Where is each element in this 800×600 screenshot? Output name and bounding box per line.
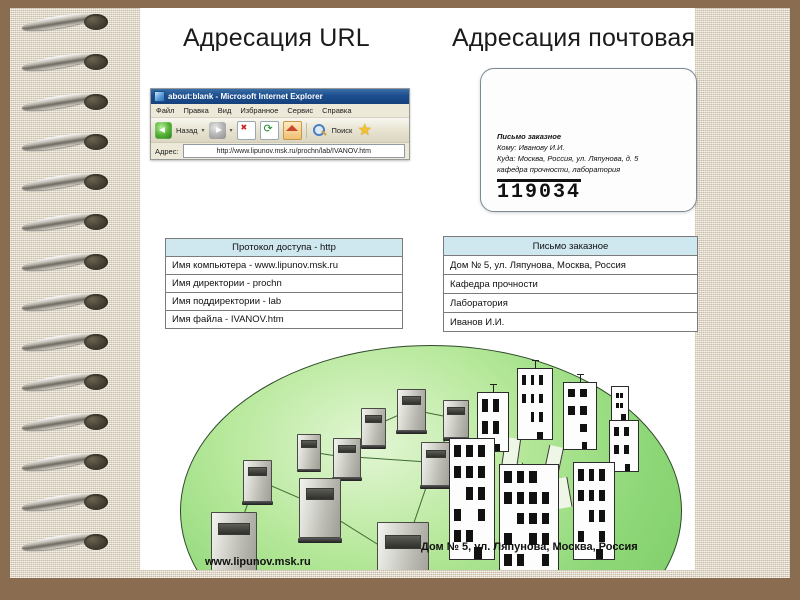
spiral-coil [22, 374, 114, 391]
tower-drive-slot [301, 440, 317, 447]
building-window [454, 466, 461, 478]
stop-icon[interactable] [237, 121, 256, 140]
address-label: Адрес: [155, 147, 179, 156]
favorites-star-icon[interactable]: ★ [356, 122, 373, 139]
building-window [539, 394, 543, 404]
building-door [495, 444, 500, 451]
building-window [478, 487, 485, 499]
computer-tower-icon [361, 408, 384, 444]
tower-drive-slot [248, 467, 267, 475]
spiral-coil [22, 534, 114, 551]
building-window [539, 412, 543, 422]
tower-drive-slot [402, 396, 421, 404]
building-window [478, 466, 485, 478]
building-window [620, 393, 623, 398]
building-window [542, 492, 550, 504]
tower-body [421, 442, 451, 486]
spiral-coil [22, 494, 114, 511]
building-window [529, 513, 537, 525]
postal-letter-text: Письмо заказное Кому: Иванову И.И. Куда:… [497, 131, 686, 203]
building-body [563, 382, 597, 450]
table-row: Иванов И.И. [444, 313, 698, 332]
caption-network-url: www.lipunov.msk.ru [205, 556, 311, 568]
building-window [529, 492, 537, 504]
letter-line-department: кафедра прочности, лаборатория [497, 164, 686, 175]
building-window [531, 412, 535, 422]
tower-base [396, 430, 426, 434]
back-button-label[interactable]: Назад [176, 126, 198, 135]
building-window [542, 513, 550, 525]
city-building-icon [517, 368, 551, 438]
url-table-cell-subdirectory: Имя поддиректории - lab [166, 293, 403, 311]
computer-tower-icon [297, 434, 319, 468]
spiral-hole [84, 214, 108, 230]
building-window [580, 389, 587, 397]
url-table-cell-filename: Имя файла - IVANOV.htm [166, 311, 403, 329]
search-button-label[interactable]: Поиск [332, 126, 353, 135]
spiral-hole [84, 294, 108, 310]
tower-body [397, 389, 426, 431]
spiral-hole [84, 54, 108, 70]
globe-ellipse [180, 345, 682, 570]
building-window [620, 403, 623, 408]
building-window [624, 445, 629, 454]
spiral-hole [84, 454, 108, 470]
computer-tower-icon [397, 389, 424, 429]
spiral-coil [22, 294, 114, 311]
building-window [580, 406, 587, 414]
table-row: Письмо заказное [444, 237, 698, 256]
spiral-binding [0, 0, 120, 600]
building-antenna-icon [535, 360, 536, 369]
building-window [454, 509, 461, 521]
building-window [578, 490, 584, 502]
menu-item-file[interactable]: Файл [156, 106, 174, 115]
menu-item-edit[interactable]: Правка [183, 106, 208, 115]
postal-breakdown-table: Письмо заказное Дом № 5, ул. Ляпунова, М… [443, 236, 698, 332]
postal-table-cell-person: Иванов И.И. [444, 313, 698, 332]
building-body [499, 464, 559, 570]
internet-explorer-icon [154, 91, 165, 102]
city-building-icon [499, 464, 557, 570]
tower-body [361, 408, 386, 446]
table-row: Протокол доступа - http [166, 239, 403, 257]
building-window [466, 466, 473, 478]
computer-tower-icon [299, 478, 339, 536]
spiral-hole [84, 174, 108, 190]
menu-item-view[interactable]: Вид [218, 106, 232, 115]
spiral-hole [84, 414, 108, 430]
building-window [589, 490, 595, 502]
building-window [624, 427, 629, 436]
building-window [599, 510, 605, 522]
tower-base [420, 485, 451, 489]
computer-tower-icon [421, 442, 449, 484]
computer-tower-icon [243, 460, 270, 500]
building-door [582, 442, 588, 449]
tower-drive-slot [218, 523, 250, 535]
building-window [531, 394, 535, 404]
spiral-hole [84, 254, 108, 270]
tower-drive-slot [447, 407, 464, 415]
building-window [517, 471, 525, 483]
url-table-header: Протокол доступа - http [166, 239, 403, 257]
page-title-postal: Адресация почтовая [452, 24, 695, 53]
forward-arrow-icon[interactable] [209, 122, 226, 139]
refresh-icon[interactable] [260, 121, 279, 140]
menu-item-favorites[interactable]: Избранное [240, 106, 278, 115]
spiral-hole [84, 494, 108, 510]
browser-toolbar: Назад ▾ ▾ Поиск ★ [151, 118, 409, 143]
browser-title-text: about:blank - Microsoft Internet Explore… [168, 92, 323, 101]
building-window [478, 509, 485, 521]
building-window [614, 427, 619, 436]
building-window [589, 510, 595, 522]
letter-line-type: Письмо заказное [497, 131, 686, 142]
tower-base [242, 501, 272, 505]
back-arrow-icon[interactable] [155, 122, 172, 139]
back-dropdown-chevron-icon[interactable]: ▾ [202, 127, 205, 134]
table-row: Кафедра прочности [444, 275, 698, 294]
city-building-icon [563, 382, 595, 448]
building-window [522, 375, 526, 385]
building-window [493, 421, 499, 434]
spiral-coil [22, 454, 114, 471]
spiral-coil [22, 134, 114, 151]
tower-drive-slot [385, 535, 421, 549]
spiral-coil [22, 94, 114, 111]
table-row: Лаборатория [444, 294, 698, 313]
spiral-coil [22, 54, 114, 71]
building-window [517, 513, 525, 525]
spiral-coil [22, 334, 114, 351]
slide: Адресация URL Адресация почтовая about:b… [0, 0, 800, 600]
building-body [611, 386, 629, 422]
browser-titlebar: about:blank - Microsoft Internet Explore… [151, 89, 409, 104]
spiral-coil [22, 254, 114, 271]
building-window [504, 471, 512, 483]
url-breakdown-table: Протокол доступа - http Имя компьютера -… [165, 238, 403, 329]
building-window [614, 445, 619, 454]
spiral-coil [22, 14, 114, 31]
table-row: Имя поддиректории - lab [166, 293, 403, 311]
spiral-hole [84, 14, 108, 30]
postal-table-header: Письмо заказное [444, 237, 698, 256]
address-input[interactable]: http://www.lipunov.msk.ru/prochn/lab/IVA… [183, 144, 405, 158]
building-window [529, 471, 537, 483]
postal-letter-card: Письмо заказное Кому: Иванову И.И. Куда:… [480, 68, 697, 212]
tower-drive-slot [426, 450, 446, 459]
building-window [578, 469, 584, 481]
spiral-hole [84, 94, 108, 110]
menu-item-tools[interactable]: Сервис [287, 106, 313, 115]
spiral-coil [22, 174, 114, 191]
building-window [517, 492, 525, 504]
spiral-hole [84, 374, 108, 390]
table-row: Имя директории - prochn [166, 275, 403, 293]
spiral-hole [84, 334, 108, 350]
tower-base [298, 538, 343, 543]
building-antenna-icon [493, 384, 494, 393]
building-window [599, 469, 605, 481]
building-window [493, 399, 499, 412]
postal-table-cell-lab: Лаборатория [444, 294, 698, 313]
forward-dropdown-chevron-icon[interactable]: ▾ [230, 127, 233, 134]
building-window [568, 406, 575, 414]
spiral-hole [84, 134, 108, 150]
computer-tower-icon [333, 438, 359, 476]
globe-illustration [140, 345, 695, 570]
building-window [531, 375, 535, 385]
building-window [482, 399, 488, 412]
home-icon[interactable] [283, 121, 302, 140]
letter-line-address: Куда: Москва, Россия, ул. Ляпунова, д. 5 [497, 153, 686, 164]
tower-body [443, 400, 469, 438]
building-window [482, 421, 488, 434]
menu-item-help[interactable]: Справка [322, 106, 351, 115]
building-window [616, 403, 619, 408]
computer-tower-icon [377, 522, 427, 570]
building-window [504, 492, 512, 504]
spiral-hole [84, 534, 108, 550]
building-window [539, 375, 543, 385]
tower-base [361, 445, 387, 448]
table-row: Имя файла - IVANOV.htm [166, 311, 403, 329]
toolbar-divider [306, 123, 307, 138]
city-building-icon [611, 386, 627, 420]
building-door [537, 432, 543, 439]
building-window [580, 424, 587, 432]
table-row: Имя компьютера - www.lipunov.msk.ru [166, 257, 403, 275]
page-title-url: Адресация URL [183, 24, 370, 53]
building-window [466, 445, 473, 457]
tower-body [297, 434, 321, 470]
postal-table-cell-department: Кафедра прочности [444, 275, 698, 294]
building-window [589, 469, 595, 481]
building-window [466, 487, 473, 499]
building-door [625, 464, 630, 471]
city-building-icon [449, 438, 493, 558]
url-table-cell-host: Имя компьютера - www.lipunov.msk.ru [166, 257, 403, 275]
browser-menubar: Файл Правка Вид Избранное Сервис Справка [151, 104, 409, 118]
building-window [616, 393, 619, 398]
tower-body [333, 438, 361, 478]
spiral-coil [22, 414, 114, 431]
caption-city-address: Дом № 5, ул. Ляпунова, Москва, Россия [421, 541, 638, 553]
building-window [599, 490, 605, 502]
browser-addressbar: Адрес: http://www.lipunov.msk.ru/prochn/… [151, 143, 409, 159]
tower-base [297, 469, 322, 472]
building-body [517, 368, 553, 440]
building-window [568, 389, 575, 397]
tower-drive-slot [306, 488, 335, 499]
building-window [522, 394, 526, 404]
browser-window: about:blank - Microsoft Internet Explore… [150, 88, 410, 160]
tower-body [299, 478, 341, 538]
building-antenna-icon [580, 374, 581, 383]
building-window [478, 445, 485, 457]
tower-drive-slot [338, 445, 357, 453]
spiral-coil [22, 214, 114, 231]
letter-line-recipient: Кому: Иванову И.И. [497, 142, 686, 153]
building-window [504, 554, 512, 566]
building-window [542, 554, 550, 566]
building-window [517, 554, 525, 566]
computer-tower-icon [443, 400, 467, 436]
tower-body [243, 460, 272, 502]
table-row: Дом № 5, ул. Ляпунова, Москва, Россия [444, 256, 698, 275]
postal-index: 119034 [497, 179, 581, 203]
building-window [454, 445, 461, 457]
url-table-cell-directory: Имя директории - prochn [166, 275, 403, 293]
tower-drive-slot [365, 415, 382, 423]
search-icon[interactable] [311, 122, 328, 139]
postal-table-cell-address: Дом № 5, ул. Ляпунова, Москва, Россия [444, 256, 698, 275]
